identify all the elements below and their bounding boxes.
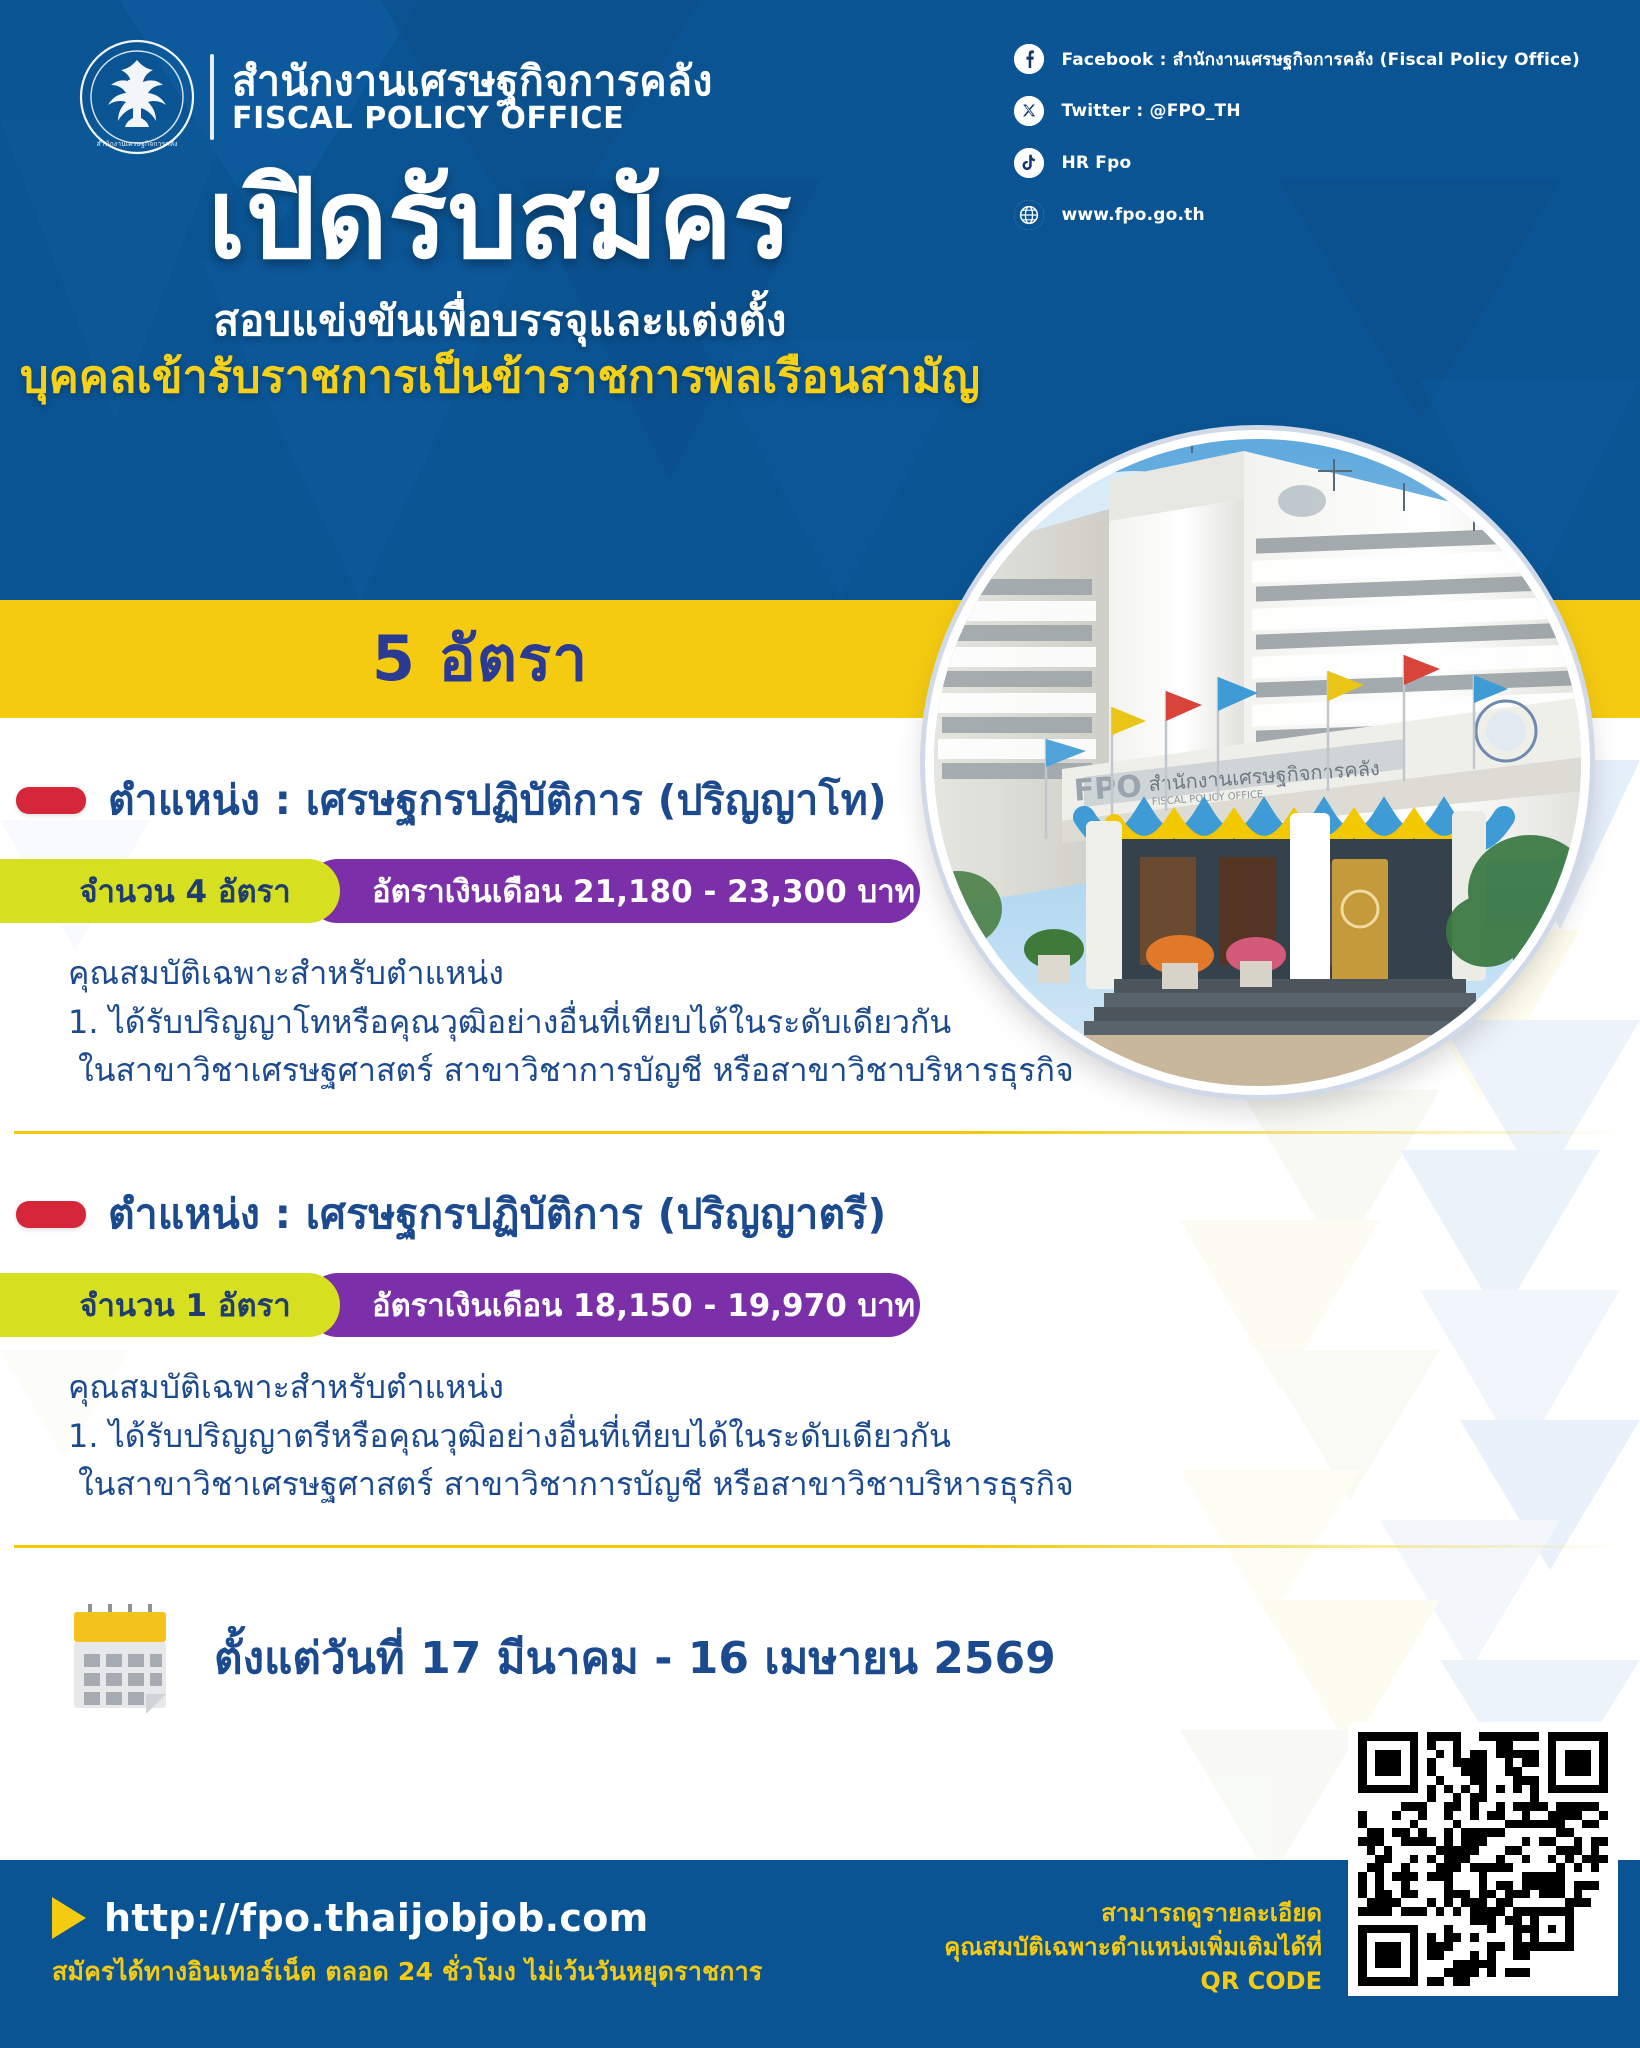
headline-block: เปิดรับสมัคร สอบแข่งขันเพื่อบรรจุและแต่ง… xyxy=(0,160,1000,403)
headline-main: เปิดรับสมัคร xyxy=(0,160,1000,279)
garuda-seal-icon: สำนักงานเศรษฐกิจการคลัง xyxy=(78,38,196,156)
application-url[interactable]: http://fpo.thaijobjob.com xyxy=(104,1896,649,1940)
position-title-1: ตำแหน่ง : เศรษฐกรปฏิบัติการ (ปริญญาโท) xyxy=(108,768,887,833)
position-block-2: ตำแหน่ง : เศรษฐกรปฏิบัติการ (ปริญญาตรี) … xyxy=(0,1134,1640,1548)
qr-note-line-3: QR CODE xyxy=(944,1964,1322,1998)
facebook-icon xyxy=(1014,44,1044,74)
brand-name-th: สำนักงานเศรษฐกิจการคลัง xyxy=(232,60,713,103)
footer-right: สามารถดูรายละเอียด คุณสมบัติเฉพาะตำแหน่ง… xyxy=(944,1896,1322,1998)
position-count-1: จำนวน 4 อัตรา xyxy=(0,859,340,923)
qr-code-icon[interactable] xyxy=(1348,1722,1618,1996)
social-label-facebook: Facebook : สำนักงานเศรษฐกิจการคลัง (Fisc… xyxy=(1061,46,1580,73)
position-title-row-2: ตำแหน่ง : เศรษฐกรปฏิบัติการ (ปริญญาตรี) xyxy=(0,1182,1640,1247)
social-label-tiktok: HR Fpo xyxy=(1061,153,1131,173)
position-pills-2: จำนวน 1 อัตรา อัตราเงินเดือน 18,150 - 19… xyxy=(0,1273,920,1337)
vacancy-count-text: 5 อัตรา xyxy=(0,600,960,718)
calendar-icon xyxy=(68,1602,172,1714)
red-dash-marker-icon xyxy=(16,1201,86,1228)
tiktok-icon xyxy=(1014,148,1044,178)
headline-sub-2: บุคคลเข้ารับราชการเป็นข้าราชการพลเรือนสา… xyxy=(0,351,1000,403)
social-contact-list: Facebook : สำนักงานเศรษฐกิจการคลัง (Fisc… xyxy=(1014,44,1580,230)
social-row-website[interactable]: www.fpo.go.th xyxy=(1014,200,1580,230)
position-qualifications-2: คุณสมบัติเฉพาะสำหรับตำแหน่ง 1. ได้รับปริ… xyxy=(0,1363,1640,1509)
social-row-facebook[interactable]: Facebook : สำนักงานเศรษฐกิจการคลัง (Fisc… xyxy=(1014,44,1580,74)
headline-sub-1: สอบแข่งขันเพื่อบรรจุและแต่งตั้ง xyxy=(0,297,1000,345)
footer-left: http://fpo.thaijobjob.com สมัครได้ทางอิน… xyxy=(52,1896,762,1992)
position-salary-1: อัตราเงินเดือน 21,180 - 23,300 บาท xyxy=(306,859,920,923)
twitter-x-icon xyxy=(1014,96,1044,126)
qr-note-line-2: คุณสมบัติเฉพาะตำแหน่งเพิ่มเติมได้ที่ xyxy=(944,1930,1322,1964)
brand-divider xyxy=(210,54,214,140)
position-count-2: จำนวน 1 อัตรา xyxy=(0,1273,340,1337)
social-row-twitter[interactable]: Twitter : @FPO_TH xyxy=(1014,96,1580,126)
application-period-row: ตั้งแต่วันที่ 17 มีนาคม - 16 เมษายน 2569 xyxy=(0,1602,1640,1714)
svg-text:FPO: FPO xyxy=(1073,769,1143,809)
application-period-text: ตั้งแต่วันที่ 17 มีนาคม - 16 เมษายน 2569 xyxy=(214,1623,1056,1693)
position-salary-2: อัตราเงินเดือน 18,150 - 19,970 บาท xyxy=(306,1273,920,1337)
qual-line-2-2: ในสาขาวิชาเศรษฐศาสตร์ สาขาวิชาการบัญชี ห… xyxy=(68,1460,1640,1509)
social-label-twitter: Twitter : @FPO_TH xyxy=(1061,101,1240,121)
office-building-image: สำนักงานเศรษฐกิจการคลัง FISCAL POLICY OF… xyxy=(934,439,1581,1086)
social-label-website: www.fpo.go.th xyxy=(1061,205,1204,225)
qr-note-line-1: สามารถดูรายละเอียด xyxy=(944,1896,1322,1930)
application-url-note: สมัครได้ทางอินเทอร์เน็ต ตลอด 24 ชั่วโมง … xyxy=(52,1952,762,1992)
qual-line-2-1: 1. ได้รับปริญญาตรีหรือคุณวุฒิอย่างอื่นที… xyxy=(68,1412,1640,1461)
red-dash-marker-icon xyxy=(16,787,86,814)
globe-icon xyxy=(1014,200,1044,230)
qr-code-grid xyxy=(1358,1732,1608,1986)
application-url-row[interactable]: http://fpo.thaijobjob.com xyxy=(52,1896,762,1940)
brand-lockup: สำนักงานเศรษฐกิจการคลัง สำนักงานเศรษฐกิจ… xyxy=(78,38,713,156)
qual-heading-2: คุณสมบัติเฉพาะสำหรับตำแหน่ง xyxy=(68,1363,1640,1412)
svg-text:สำนักงานเศรษฐกิจการคลัง: สำนักงานเศรษฐกิจการคลัง xyxy=(96,140,177,148)
play-triangle-icon xyxy=(52,1897,86,1939)
social-row-tiktok[interactable]: HR Fpo xyxy=(1014,148,1580,178)
section-divider-2 xyxy=(14,1545,1626,1548)
poster-root: สำนักงานเศรษฐกิจการคลัง สำนักงานเศรษฐกิจ… xyxy=(0,0,1640,2048)
position-title-2: ตำแหน่ง : เศรษฐกรปฏิบัติการ (ปริญญาตรี) xyxy=(108,1182,886,1247)
position-pills-1: จำนวน 4 อัตรา อัตราเงินเดือน 21,180 - 23… xyxy=(0,859,920,923)
office-building-photo: สำนักงานเศรษฐกิจการคลัง FISCAL POLICY OF… xyxy=(925,430,1590,1095)
brand-name-en: FISCAL POLICY OFFICE xyxy=(232,103,713,135)
brand-text: สำนักงานเศรษฐกิจการคลัง FISCAL POLICY OF… xyxy=(232,60,713,135)
